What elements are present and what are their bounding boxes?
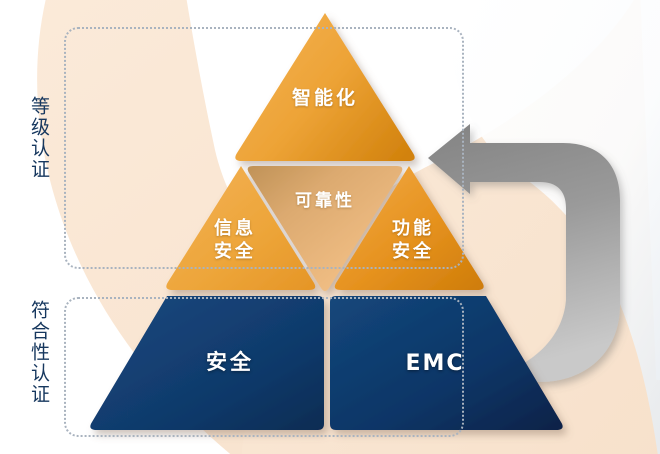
compliance-certification-group [64,297,464,437]
level-certification-group [64,27,464,269]
side-label-level-certification: 等级认证 [28,96,48,180]
side-label-compliance-certification: 符合性认证 [28,300,48,405]
diagram-canvas: 等级认证 符合性认证 智能化 可靠性 信息 安全 功能 安全 安全 EMC [0,0,660,454]
